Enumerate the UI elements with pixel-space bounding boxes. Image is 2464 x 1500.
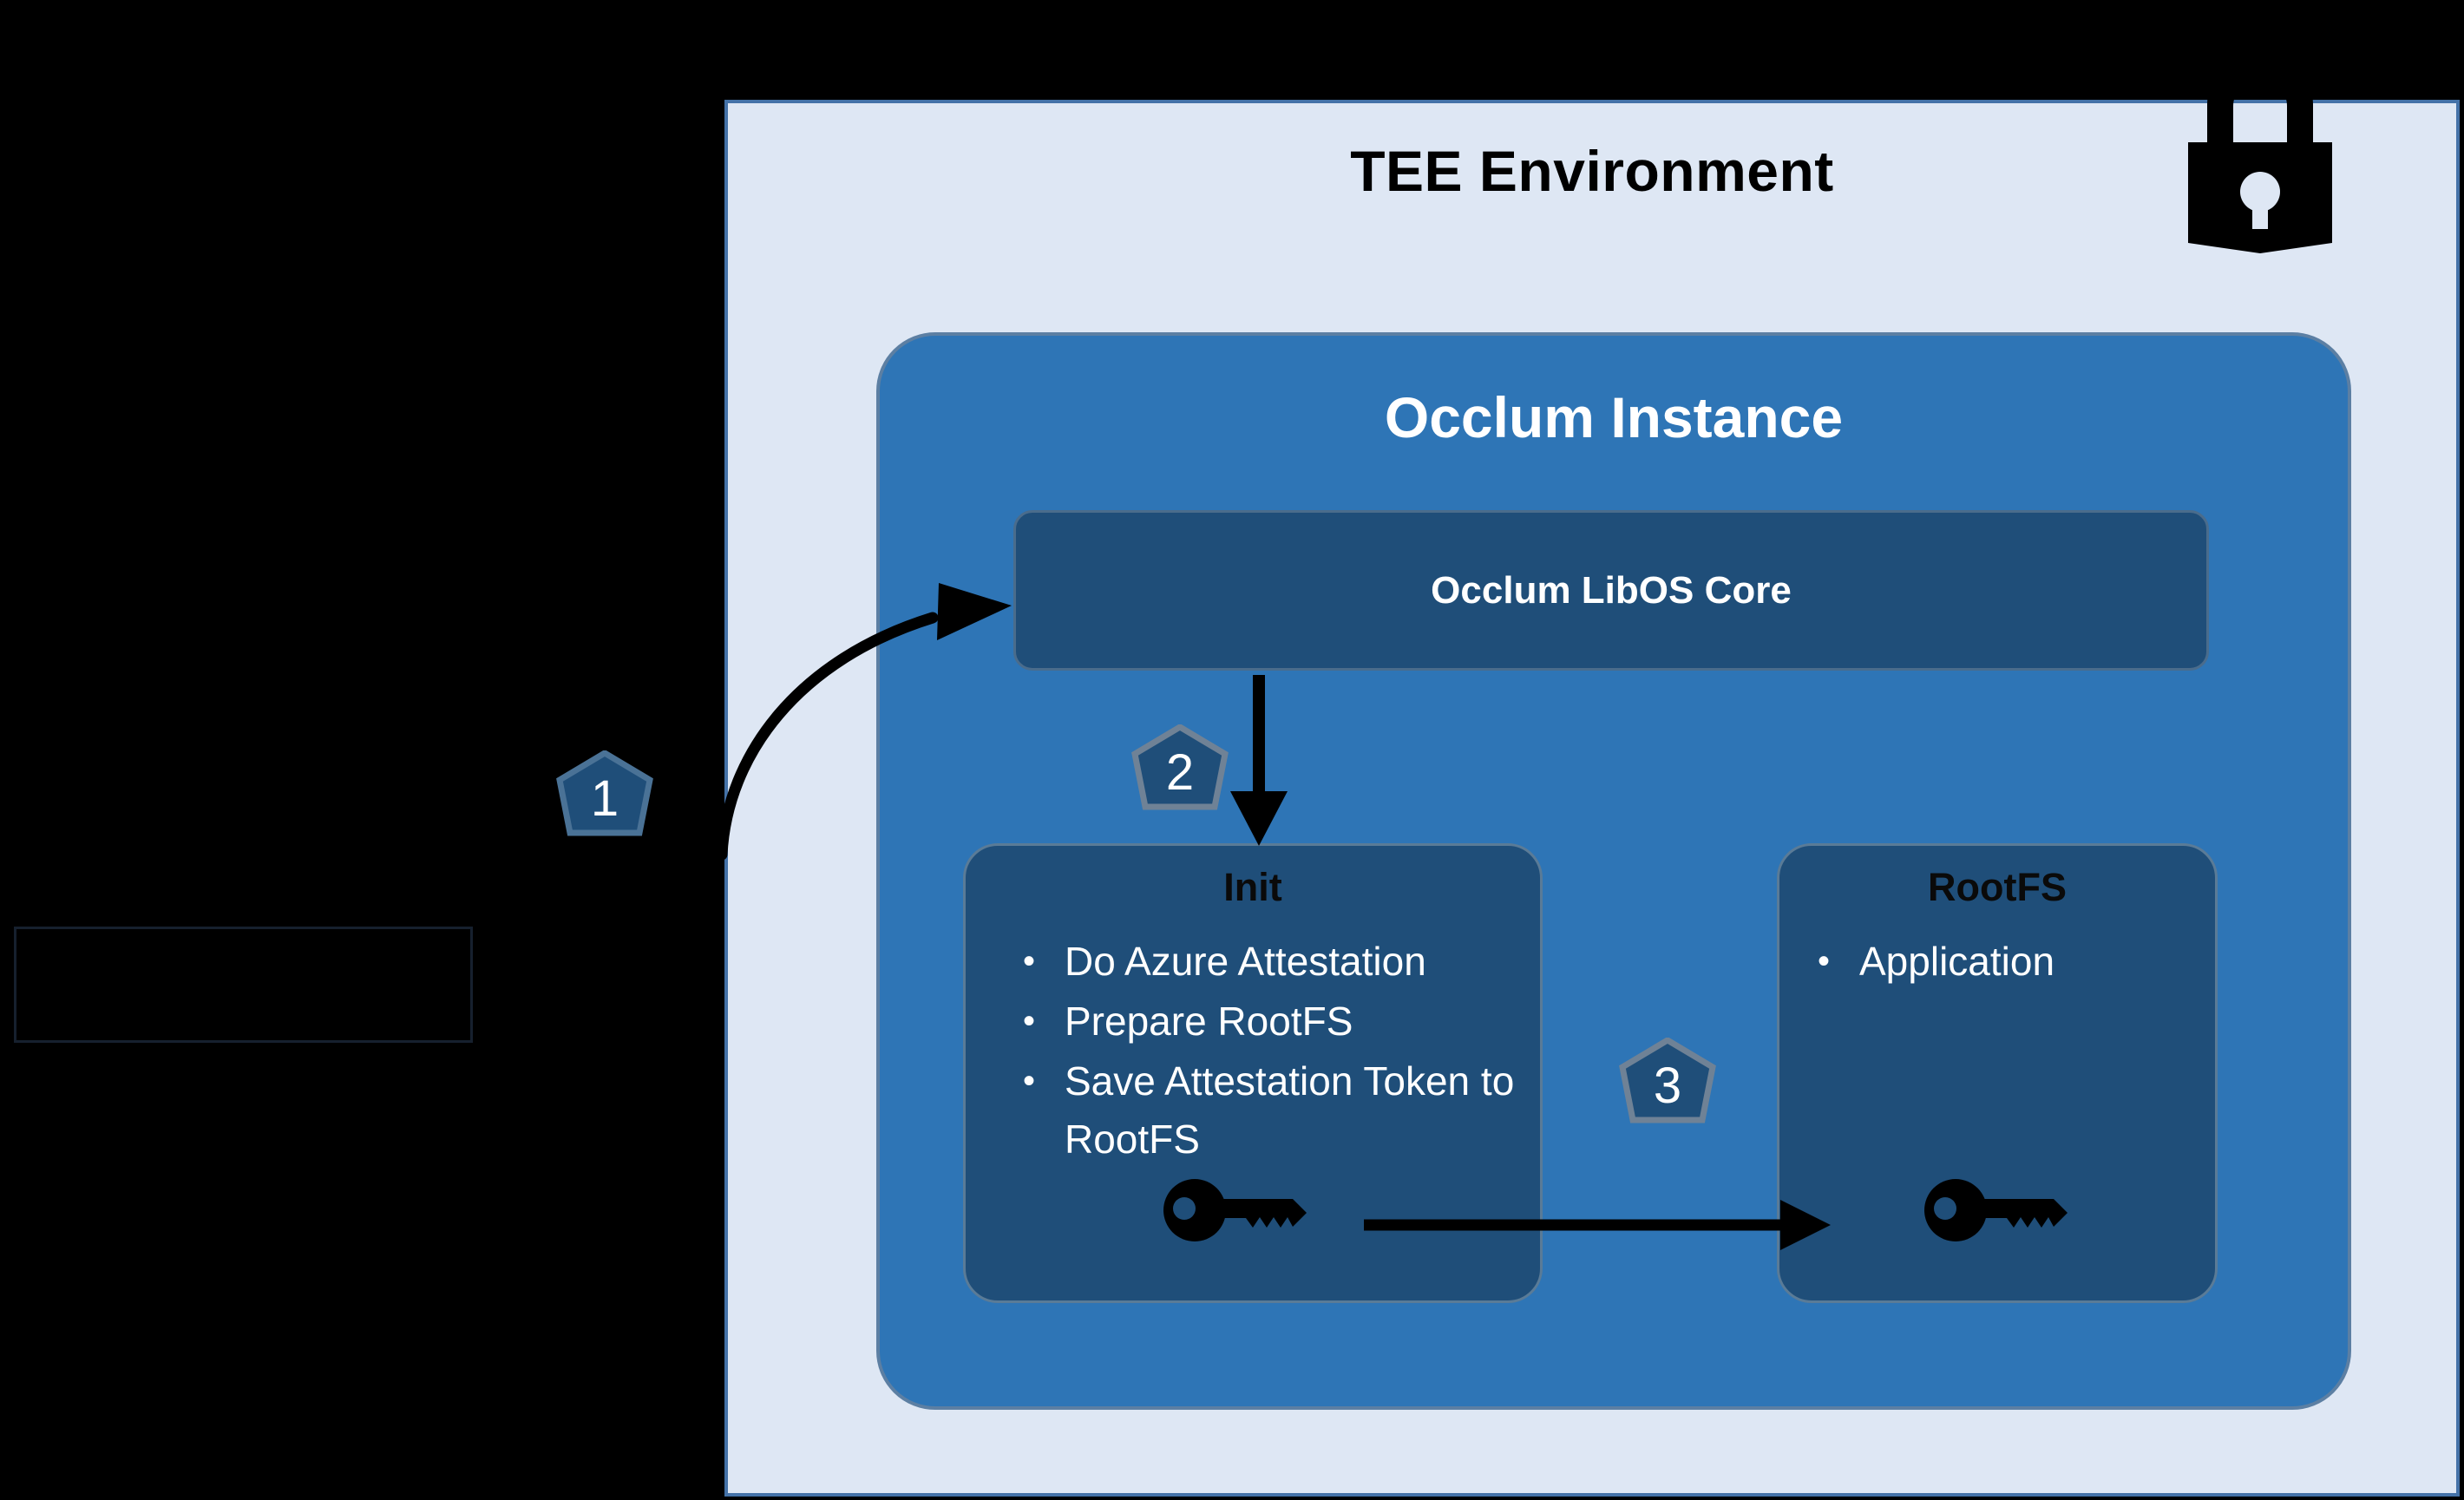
step-badge-3-number: 3 [1615,1038,1720,1133]
step-badge-1: 1 [553,750,657,846]
tee-environment-title: TEE Environment [728,138,2456,204]
list-item: Do Azure Attestation [1011,933,1523,991]
key-icon [1161,1176,1317,1245]
init-title: Init [966,865,1540,910]
rootfs-title: RootFS [1779,865,2215,910]
diagram-canvas: TEE Environment Occlum Instance Occlum L… [0,0,2464,1500]
step-badge-3: 3 [1615,1038,1720,1133]
rootfs-bullet-list: Application [1805,933,2198,992]
key-icon [1922,1176,2078,1245]
step-badge-2-number: 2 [1128,724,1232,820]
list-item: Prepare RootFS [1011,992,1523,1051]
step-badge-1-number: 1 [553,750,657,846]
empty-outlined-box [14,927,473,1043]
occlum-libos-core-label: Occlum LibOS Core [1431,569,1792,612]
list-item: Save Attestation Token to RootFS [1011,1052,1523,1169]
occlum-instance-title: Occlum Instance [880,384,2348,450]
init-bullet-list: Do Azure Attestation Prepare RootFS Save… [1011,933,1523,1170]
step-badge-2: 2 [1128,724,1232,820]
occlum-libos-core-box: Occlum LibOS Core [1013,510,2209,671]
list-item: Application [1805,933,2198,991]
